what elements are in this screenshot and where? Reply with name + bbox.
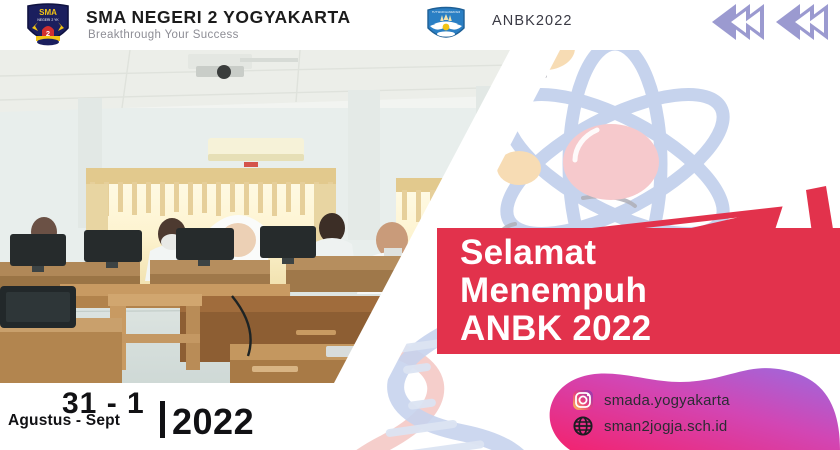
school-name: SMA NEGERI 2 YOGYAKARTA <box>86 7 351 28</box>
instagram-icon <box>572 389 594 411</box>
headline-line-2: Menempuh <box>460 272 840 310</box>
svg-text:TUT WURI HANDAYANI: TUT WURI HANDAYANI <box>432 10 460 14</box>
website-url: sman2jogja.sch.id <box>604 418 727 435</box>
headline-line-1: Selamat <box>460 234 840 272</box>
headline-text: Selamat Menempuh ANBK 2022 <box>460 234 840 348</box>
instagram-handle: smada.yogyakarta <box>604 392 730 409</box>
svg-text:SMA: SMA <box>39 8 57 17</box>
date-divider <box>160 401 165 438</box>
tut-wuri-handayani-logo: TUT WURI HANDAYANI <box>424 4 468 46</box>
anbk-2022-greeting-banner: Selamat Menempuh ANBK 2022 SMA NEGERI 2 … <box>0 0 840 450</box>
anbk-label: ANBK2022 <box>492 13 573 29</box>
monitor-front-left <box>0 286 76 328</box>
social-row-website[interactable]: sman2jogja.sch.id <box>572 413 730 439</box>
social-links: smada.yogyakarta sman2jogja.sch.id <box>572 387 730 439</box>
social-row-instagram[interactable]: smada.yogyakarta <box>572 387 730 413</box>
header-bar: SMA NEGERI 2 YK 2 SMA NEGERI 2 YOGYAKART… <box>0 0 840 50</box>
double-chevron-left-arrows-icon <box>706 4 832 40</box>
date-year: 2022 <box>172 401 254 443</box>
air-conditioner <box>208 138 304 161</box>
headline-line-3: ANBK 2022 <box>460 310 840 348</box>
globe-icon <box>572 415 594 437</box>
svg-text:NEGERI 2 YK: NEGERI 2 YK <box>37 18 59 22</box>
sma-negeri-2-shield-logo: SMA NEGERI 2 YK 2 <box>22 2 74 48</box>
school-tagline: Breakthrough Your Success <box>88 29 239 41</box>
date-block: 31 - 1 Agustus - Sept 2022 <box>0 383 420 450</box>
date-month-range: Agustus - Sept <box>8 412 120 430</box>
